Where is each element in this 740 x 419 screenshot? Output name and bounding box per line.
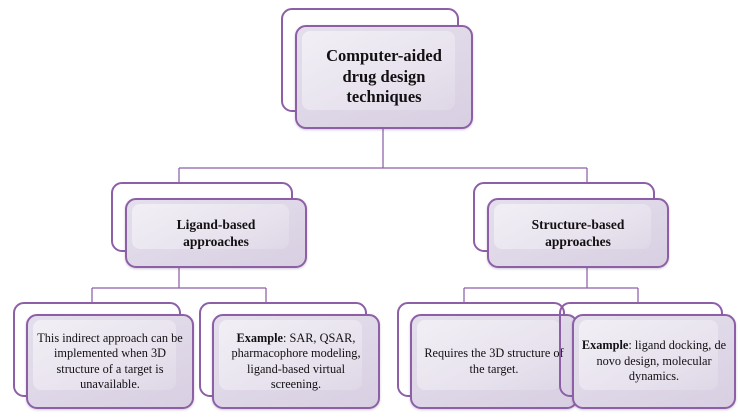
node-root-box[interactable]: Computer-aided drug design techniques	[295, 25, 473, 129]
node-ligand-leaf-2-label: Example: SAR, QSAR, pharmacophore modeli…	[214, 331, 378, 393]
root-line-2: drug design	[343, 67, 426, 86]
ligand-line-1: Ligand-based	[177, 217, 256, 232]
node-structure-leaf-requires-3d[interactable]: Requires the 3D structure of the target.	[397, 302, 578, 409]
node-ligand-leaf-example[interactable]: Example: SAR, QSAR, pharmacophore modeli…	[199, 302, 380, 409]
node-root-label: Computer-aided drug design techniques	[319, 46, 449, 108]
node-ligand-label: Ligand-based approaches	[170, 216, 263, 251]
node-ligand-leaf-2-box[interactable]: Example: SAR, QSAR, pharmacophore modeli…	[212, 314, 380, 409]
node-ligand-leaf-indirect-approach[interactable]: This indirect approach can be implemente…	[13, 302, 194, 409]
structure-leaf-1-text: Requires the 3D structure of the target.	[424, 346, 563, 375]
node-structure-leaf-2-box[interactable]: Example: ligand docking, de novo design,…	[572, 314, 736, 409]
root-line-1: Computer-aided	[326, 46, 442, 65]
structure-line-1: Structure-based	[532, 217, 625, 232]
node-root[interactable]: Computer-aided drug design techniques	[281, 8, 473, 129]
node-structure-leaf-1-box[interactable]: Requires the 3D structure of the target.	[410, 314, 578, 409]
ligand-line-2: approaches	[183, 234, 249, 249]
ligand-leaf-1-text: This indirect approach can be implemente…	[37, 331, 182, 391]
node-structure-leaf-2-label: Example: ligand docking, de novo design,…	[574, 338, 734, 384]
structure-line-2: approaches	[545, 234, 611, 249]
node-structure-based-approaches[interactable]: Structure-based approaches	[473, 182, 669, 268]
node-ligand-leaf-1-box[interactable]: This indirect approach can be implemente…	[26, 314, 194, 409]
cadd-hierarchy-diagram: Computer-aided drug design techniques Li…	[0, 0, 740, 419]
node-structure-leaf-example[interactable]: Example: ligand docking, de novo design,…	[559, 302, 736, 409]
node-structure-label: Structure-based approaches	[525, 216, 632, 251]
node-ligand-leaf-1-label: This indirect approach can be implemente…	[28, 331, 192, 393]
structure-leaf-2-emphasis: Example	[582, 338, 628, 352]
node-ligand-based-approaches[interactable]: Ligand-based approaches	[111, 182, 307, 268]
node-ligand-box[interactable]: Ligand-based approaches	[125, 198, 307, 268]
node-structure-box[interactable]: Structure-based approaches	[487, 198, 669, 268]
root-line-3: techniques	[346, 87, 421, 106]
ligand-leaf-2-emphasis: Example	[237, 331, 283, 345]
node-structure-leaf-1-label: Requires the 3D structure of the target.	[412, 346, 576, 377]
